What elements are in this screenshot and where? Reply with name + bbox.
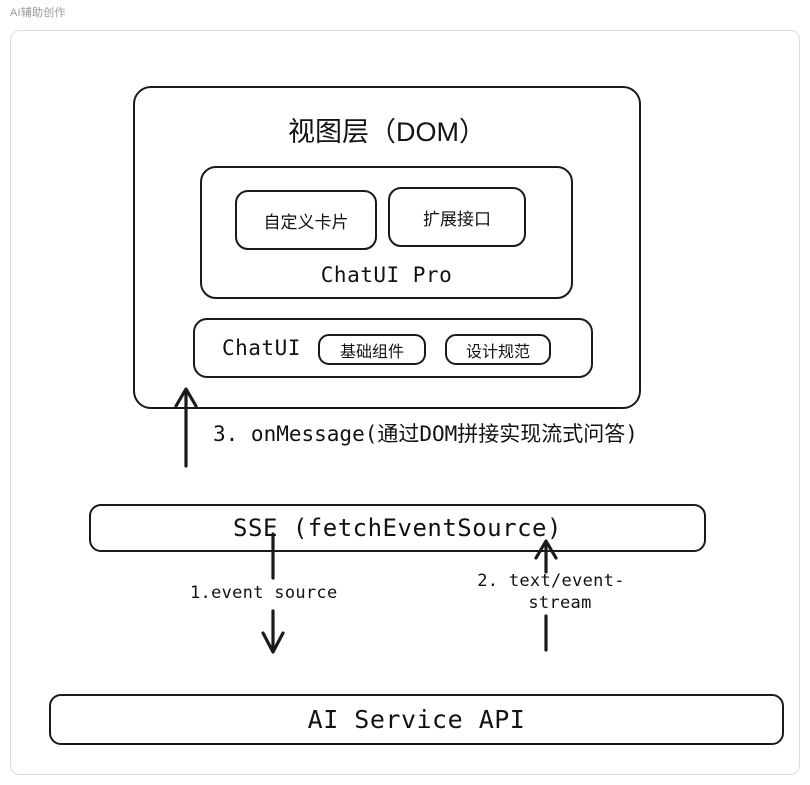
chatui-label: ChatUI <box>222 320 301 376</box>
view-layer-node: 视图层（DOM） 自定义卡片 扩展接口 ChatUI Pro ChatUI 基础… <box>133 86 641 409</box>
edge-label-event-stream: 2. text/event- stream <box>466 570 636 614</box>
chatui-row-node: ChatUI 基础组件 设计规范 <box>193 318 593 378</box>
view-layer-title: 视图层（DOM） <box>135 110 639 149</box>
sse-node: SSE (fetchEventSource) <box>89 504 706 552</box>
edge-label-event-stream-line2: stream <box>466 592 636 614</box>
custom-card-node: 自定义卡片 <box>235 190 377 250</box>
diagram-card: 视图层（DOM） 自定义卡片 扩展接口 ChatUI Pro ChatUI 基础… <box>10 30 800 775</box>
chatui-pro-label: ChatUI Pro <box>202 263 571 287</box>
edge-label-event-source: 1.event source <box>190 583 338 603</box>
page-caption: AI辅助创作 <box>10 4 66 20</box>
diagram-root: AI辅助创作 视图层（DOM） 自定义卡片 扩展接口 ChatUI Pro Ch… <box>0 0 810 785</box>
edge-label-event-stream-line1: 2. text/event- <box>477 571 625 591</box>
design-spec-chip: 设计规范 <box>445 334 551 365</box>
ai-service-api-node: AI Service API <box>49 694 784 745</box>
edge-label-onmessage: 3. onMessage(通过DOM拼接实现流式问答) <box>213 418 638 448</box>
extension-api-node: 扩展接口 <box>388 187 526 247</box>
chatui-pro-group: 自定义卡片 扩展接口 ChatUI Pro <box>200 166 573 299</box>
base-components-chip: 基础组件 <box>318 334 426 365</box>
